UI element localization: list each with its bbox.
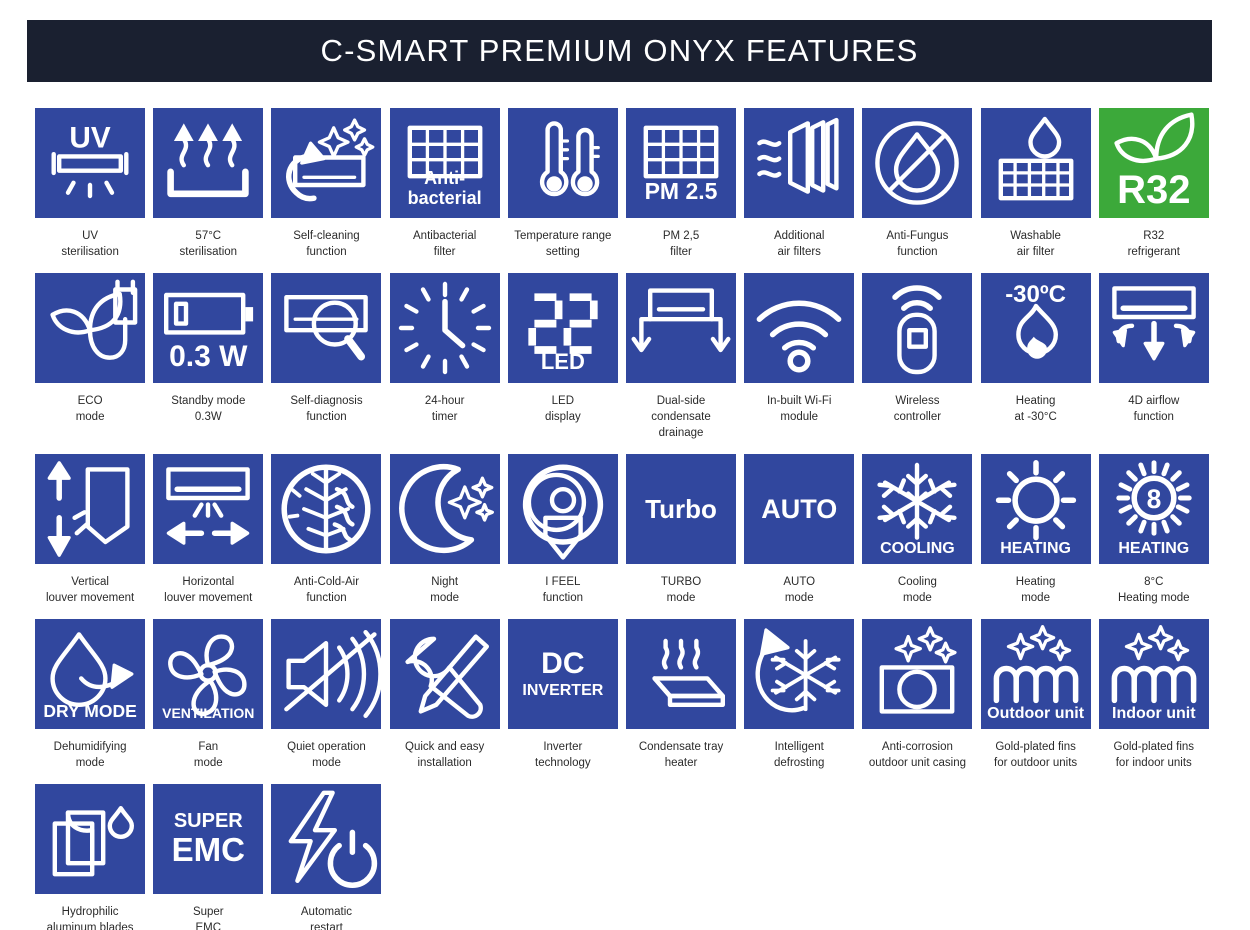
magnifier-unit-icon (271, 273, 381, 383)
header-bar: C-SMART PREMIUM ONYX FEATURES (27, 20, 1212, 82)
feature-caption: Antibacterial filter (386, 228, 504, 260)
feature-tile[interactable]: Turbo (626, 454, 736, 564)
tile-label: Indoor unit (1099, 705, 1209, 722)
feature-cell: Night mode (386, 454, 504, 619)
feature-caption: Inverter technology (504, 739, 622, 771)
two-thermometers-icon (508, 108, 618, 218)
feature-caption: 8°C Heating mode (1095, 574, 1213, 606)
feature-tile[interactable] (626, 619, 736, 729)
feature-cell: HEATINGHeating mode (977, 454, 1095, 619)
feature-cell: PM 2.5PM 2,5 filter (622, 108, 740, 273)
feature-caption: Night mode (386, 574, 504, 606)
feature-tile[interactable] (744, 619, 854, 729)
svg-text:8: 8 (1146, 484, 1161, 514)
feature-tile[interactable]: LED (508, 273, 618, 383)
feature-cell: Anti-Fungus function (858, 108, 976, 273)
feature-caption: 4D airflow function (1095, 393, 1213, 425)
feature-caption: Super EMC (149, 904, 267, 930)
feature-tile[interactable]: Outdoor unit (981, 619, 1091, 729)
moon-stars-icon (390, 454, 500, 564)
anti-cold-air-icon (271, 454, 381, 564)
feature-cell: Quiet operation mode (267, 619, 385, 784)
feature-caption: UV sterilisation (31, 228, 149, 260)
feature-cell: Anti-corrosion outdoor unit casing (858, 619, 976, 784)
super-emc-text-icon: SUPEREMC (153, 784, 263, 894)
feature-tile[interactable] (862, 619, 972, 729)
feature-tile[interactable] (1099, 273, 1209, 383)
feature-cell: Temperature range setting (504, 108, 622, 273)
feature-caption: Standby mode 0.3W (149, 393, 267, 425)
feature-cell: Self-cleaning function (267, 108, 385, 273)
feature-caption: Wireless controller (858, 393, 976, 425)
hydrophilic-blades-icon (35, 784, 145, 894)
feature-caption: Heating at -30°C (977, 393, 1095, 425)
i-feel-person-icon (508, 454, 618, 564)
feature-tile[interactable] (390, 273, 500, 383)
feature-tile[interactable] (744, 273, 854, 383)
feature-tile[interactable] (271, 273, 381, 383)
feature-caption: In-built Wi-Fi module (740, 393, 858, 425)
feature-tile[interactable] (744, 108, 854, 218)
feature-tile[interactable] (271, 454, 381, 564)
feature-tile[interactable] (981, 108, 1091, 218)
feature-tile[interactable] (35, 454, 145, 564)
feature-tile[interactable]: -30ºC (981, 273, 1091, 383)
feature-tile[interactable]: VENTILATION (153, 619, 263, 729)
feature-tile[interactable]: PM 2.5 (626, 108, 736, 218)
feature-caption: Dual-side condensate drainage (622, 393, 740, 441)
remote-controller-icon (862, 273, 972, 383)
four-d-airflow-icon (1099, 273, 1209, 383)
feature-caption: AUTO mode (740, 574, 858, 606)
feature-cell: TurboTURBO mode (622, 454, 740, 619)
feature-tile[interactable]: UV (35, 108, 145, 218)
feature-cell: -30ºCHeating at -30°C (977, 273, 1095, 454)
feature-cell: Quick and easy installation (386, 619, 504, 784)
feature-cell: Wireless controller (858, 273, 976, 454)
feature-caption: Hydrophilic aluminum blades (31, 904, 149, 930)
feature-cell: VENTILATIONFan mode (149, 619, 267, 784)
feature-caption: Intelligent defrosting (740, 739, 858, 771)
feature-cell: Washable air filter (977, 108, 1095, 273)
feature-cell: Additional air filters (740, 108, 858, 273)
feature-cell: Outdoor unitGold-plated fins for outdoor… (977, 619, 1095, 784)
feature-tile[interactable]: COOLING (862, 454, 972, 564)
feature-caption: Self-cleaning function (267, 228, 385, 260)
feature-tile[interactable] (862, 108, 972, 218)
tile-label: Outdoor unit (981, 705, 1091, 722)
feature-sheet: C-SMART PREMIUM ONYX FEATURES UV UV ster… (0, 0, 1250, 930)
tile-label: R32 (1099, 169, 1209, 212)
defrost-snowflake-icon (744, 619, 854, 729)
tile-label: DRY MODE (35, 702, 145, 721)
feature-cell: LEDLED display (504, 273, 622, 454)
feature-cell: Horizontal louver movement (149, 454, 267, 619)
feature-tile[interactable]: DRY MODE (35, 619, 145, 729)
feature-tile[interactable] (271, 784, 381, 894)
feature-caption: Gold-plated fins for outdoor units (977, 739, 1095, 771)
feature-caption: Anti-Fungus function (858, 228, 976, 260)
feature-cell: AUTOAUTO mode (740, 454, 858, 619)
no-moisture-droplet-icon (862, 108, 972, 218)
feature-caption: Washable air filter (977, 228, 1095, 260)
feature-caption: Heating mode (977, 574, 1095, 606)
feature-caption: Condensate tray heater (622, 739, 740, 771)
mute-speaker-icon (271, 619, 381, 729)
feature-caption: I FEEL function (504, 574, 622, 606)
feature-tile[interactable]: 8 HEATING (1099, 454, 1209, 564)
feature-tile[interactable]: 0.3 W (153, 273, 263, 383)
feature-tile[interactable] (271, 108, 381, 218)
feature-caption: 24-hour timer (386, 393, 504, 425)
tile-label: HEATING (981, 540, 1091, 557)
feature-tile[interactable] (626, 273, 736, 383)
auto-text-icon: AUTO (744, 454, 854, 564)
feature-tile[interactable] (153, 108, 263, 218)
feature-cell: 4D airflow function (1095, 273, 1213, 454)
page-title: C-SMART PREMIUM ONYX FEATURES (320, 33, 918, 69)
leaf-plug-icon (35, 273, 145, 383)
feature-cell: SUPEREMCSuper EMC (149, 784, 267, 930)
feature-caption: Additional air filters (740, 228, 858, 260)
feature-caption: Anti-Cold-Air function (267, 574, 385, 606)
tile-label: 0.3 W (153, 341, 263, 373)
dual-drain-icon (626, 273, 736, 383)
feature-caption: Horizontal louver movement (149, 574, 267, 606)
feature-tile[interactable]: DCINVERTER (508, 619, 618, 729)
feature-cell: 24-hour timer (386, 273, 504, 454)
feature-cell: Vertical louver movement (31, 454, 149, 619)
washable-filter-drop-icon (981, 108, 1091, 218)
self-cleaning-sparkle-icon (271, 108, 381, 218)
feature-tile[interactable] (35, 273, 145, 383)
uv-lamp-icon: UV (35, 108, 145, 218)
feature-tile[interactable] (153, 454, 263, 564)
feature-cell: Condensate tray heater (622, 619, 740, 784)
condensate-tray-heater-icon (626, 619, 736, 729)
feature-caption: LED display (504, 393, 622, 425)
feature-caption: Self-diagnosis function (267, 393, 385, 425)
feature-cell: DRY MODEDehumidifying mode (31, 619, 149, 784)
feature-cell: R32R32 refrigerant (1095, 108, 1213, 273)
feature-caption: Gold-plated fins for indoor units (1095, 739, 1213, 771)
feature-caption: TURBO mode (622, 574, 740, 606)
anti-corrosion-casing-icon (862, 619, 972, 729)
feature-caption: 57°C sterilisation (149, 228, 267, 260)
turbo-text-icon: Turbo (626, 454, 736, 564)
feature-cell: Dual-side condensate drainage (622, 273, 740, 454)
svg-text:UV: UV (69, 122, 110, 155)
feature-cell: Intelligent defrosting (740, 619, 858, 784)
feature-cell: 57°C sterilisation (149, 108, 267, 273)
feature-cell: 8 HEATING8°C Heating mode (1095, 454, 1213, 619)
feature-cell: Anti- bacterialAntibacterial filter (386, 108, 504, 273)
tile-label: HEATING (1099, 540, 1209, 557)
tile-label: -30ºC (981, 282, 1091, 308)
tile-label: VENTILATION (153, 706, 263, 721)
dc-inverter-text-icon: DCINVERTER (508, 619, 618, 729)
feature-cell: Indoor unitGold-plated fins for indoor u… (1095, 619, 1213, 784)
feature-cell: Automatic restart (267, 784, 385, 930)
horizontal-louver-icon (153, 454, 263, 564)
auto-restart-bolt-icon (271, 784, 381, 894)
feature-tile[interactable]: Indoor unit (1099, 619, 1209, 729)
feature-tile[interactable] (508, 454, 618, 564)
vertical-louver-icon (35, 454, 145, 564)
multi-layer-filter-icon (744, 108, 854, 218)
feature-caption: Dehumidifying mode (31, 739, 149, 771)
feature-caption: Quiet operation mode (267, 739, 385, 771)
feature-tile[interactable]: Anti- bacterial (390, 108, 500, 218)
feature-tile[interactable] (390, 454, 500, 564)
feature-tile[interactable] (271, 619, 381, 729)
wifi-icon (744, 273, 854, 383)
feature-tile[interactable]: SUPEREMC (153, 784, 263, 894)
feature-caption: Anti-corrosion outdoor unit casing (858, 739, 976, 771)
feature-cell: UV UV sterilisation (31, 108, 149, 273)
feature-cell: DCINVERTERInverter technology (504, 619, 622, 784)
tile-label: COOLING (862, 540, 972, 557)
feature-cell: Anti-Cold-Air function (267, 454, 385, 619)
feature-cell: COOLINGCooling mode (858, 454, 976, 619)
tile-label: Anti- bacterial (390, 169, 500, 208)
feature-caption: PM 2,5 filter (622, 228, 740, 260)
feature-caption: Cooling mode (858, 574, 976, 606)
feature-tile[interactable]: HEATING (981, 454, 1091, 564)
feature-tile[interactable]: R32 (1099, 108, 1209, 218)
feature-caption: ECO mode (31, 393, 149, 425)
feature-tile[interactable] (862, 273, 972, 383)
feature-caption: Quick and easy installation (386, 739, 504, 771)
feature-caption: Fan mode (149, 739, 267, 771)
tile-label: PM 2.5 (626, 179, 736, 204)
feature-cell: Hydrophilic aluminum blades (31, 784, 149, 930)
tile-label: LED (508, 349, 618, 375)
feature-cell: 0.3 WStandby mode 0.3W (149, 273, 267, 454)
feature-grid: UV UV sterilisation 57°C sterilisation S… (31, 108, 1213, 930)
feature-tile[interactable] (35, 784, 145, 894)
feature-tile[interactable] (508, 108, 618, 218)
feature-cell: ECO mode (31, 273, 149, 454)
feature-caption: Temperature range setting (504, 228, 622, 260)
clock-icon (390, 273, 500, 383)
feature-cell: In-built Wi-Fi module (740, 273, 858, 454)
feature-caption: R32 refrigerant (1095, 228, 1213, 260)
feature-caption: Automatic restart (267, 904, 385, 930)
feature-tile[interactable]: AUTO (744, 454, 854, 564)
feature-caption: Vertical louver movement (31, 574, 149, 606)
wrench-screwdriver-icon (390, 619, 500, 729)
feature-cell: Self-diagnosis function (267, 273, 385, 454)
feature-tile[interactable] (390, 619, 500, 729)
feature-cell: I FEEL function (504, 454, 622, 619)
heat-waves-tray-icon (153, 108, 263, 218)
